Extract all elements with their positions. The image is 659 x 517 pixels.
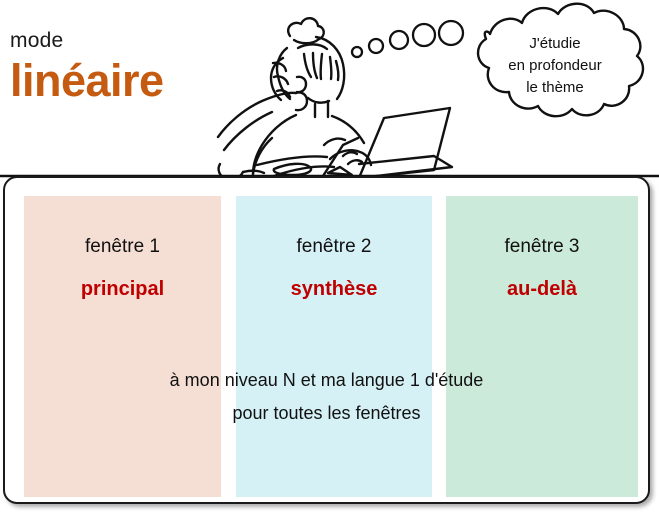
- window-column-1-title: fenêtre 1: [24, 235, 221, 258]
- window-column-2-value: synthèse: [236, 277, 432, 301]
- bubble-line-1: J'étudie: [480, 33, 630, 55]
- header-block: mode linéaire: [10, 28, 230, 106]
- thought-dot-4: [413, 24, 435, 46]
- window-column-2-title: fenêtre 2: [236, 235, 432, 258]
- mode-value: linéaire: [10, 56, 230, 106]
- windows-panel: fenêtre 1 principal fenêtre 2 synthèse f…: [3, 176, 650, 504]
- window-column-3-title: fenêtre 3: [446, 235, 638, 258]
- window-column-3-value: au-delà: [446, 277, 638, 301]
- bubble-line-2: en profondeur: [480, 55, 630, 77]
- window-column-3[interactable]: fenêtre 3 au-delà: [446, 196, 638, 497]
- thought-dot-1: [352, 47, 362, 57]
- thought-dot-3: [390, 31, 408, 49]
- window-column-1-value: principal: [24, 277, 221, 301]
- bubble-line-3: le thème: [480, 77, 630, 99]
- thought-dot-2: [369, 39, 383, 53]
- thought-dots: [340, 18, 470, 78]
- footer-line-2: pour toutes les fenêtres: [5, 397, 648, 430]
- window-column-1[interactable]: fenêtre 1 principal: [24, 196, 221, 497]
- footer-line-1: à mon niveau N et ma langue 1 d'étude: [5, 364, 648, 397]
- panel-footer-note: à mon niveau N et ma langue 1 d'étude po…: [5, 364, 648, 430]
- window-column-2[interactable]: fenêtre 2 synthèse: [236, 196, 432, 497]
- mode-label: mode: [10, 28, 230, 54]
- thought-bubble-text: J'étudie en profondeur le thème: [480, 33, 630, 99]
